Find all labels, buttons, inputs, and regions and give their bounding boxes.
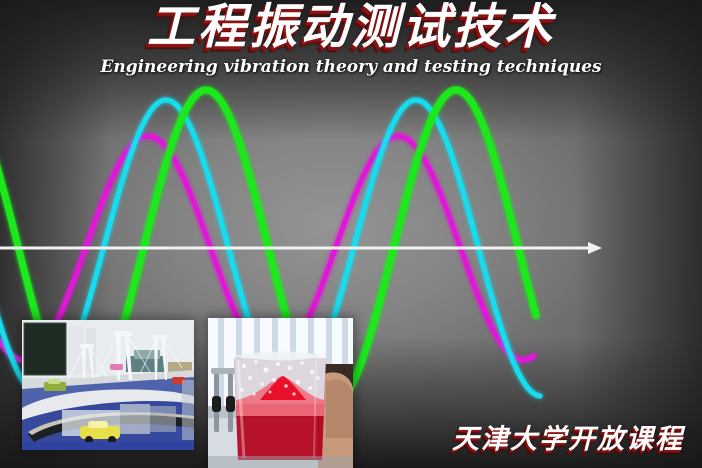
photo-beaker-vibration — [208, 318, 353, 468]
presentation-slide: 工程振动测试技术 Engineering vibration theory an… — [0, 0, 702, 468]
page-subtitle: Engineering vibration theory and testing… — [0, 57, 702, 77]
photo-bridge-model — [22, 320, 194, 450]
title-block: 工程振动测试技术 Engineering vibration theory an… — [0, 2, 702, 77]
time-axis-arrow — [0, 242, 602, 254]
brand-label: 天津大学开放课程 — [452, 417, 684, 456]
time-axis-arrowhead — [588, 242, 602, 254]
page-title: 工程振动测试技术 — [0, 2, 702, 52]
